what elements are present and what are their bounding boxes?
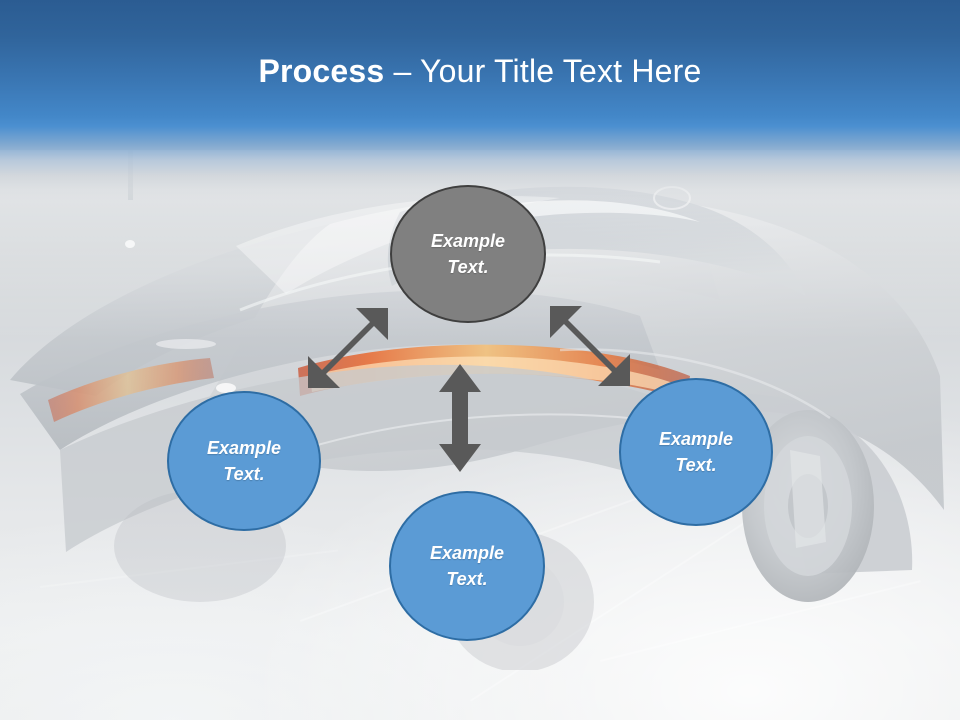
process-node-top[interactable]: Example Text.	[390, 185, 546, 323]
process-node-bottom-line2: Text.	[446, 566, 487, 592]
page-title-bold-part: Process	[258, 53, 384, 89]
double-headed-arrow-diagonal-up-right-icon[interactable]	[300, 300, 396, 396]
process-node-top-line1: Example	[431, 228, 505, 254]
process-node-bottom[interactable]: Example Text.	[389, 491, 545, 641]
process-node-right[interactable]: Example Text.	[619, 378, 773, 526]
page-title: Process – Your Title Text Here	[0, 50, 960, 92]
process-node-right-line1: Example	[659, 426, 733, 452]
process-node-right-line2: Text.	[675, 452, 716, 478]
page-title-rest-part: – Your Title Text Here	[384, 53, 701, 89]
double-headed-arrow-diagonal-down-right-icon[interactable]	[542, 298, 638, 394]
process-node-left-line2: Text.	[223, 461, 264, 487]
slide-canvas: Process – Your Title Text Here Example T…	[0, 0, 960, 720]
process-node-top-line2: Text.	[447, 254, 488, 280]
process-node-left[interactable]: Example Text.	[167, 391, 321, 531]
double-headed-arrow-vertical-icon[interactable]	[437, 362, 483, 474]
process-node-bottom-line1: Example	[430, 540, 504, 566]
process-node-left-line1: Example	[207, 435, 281, 461]
